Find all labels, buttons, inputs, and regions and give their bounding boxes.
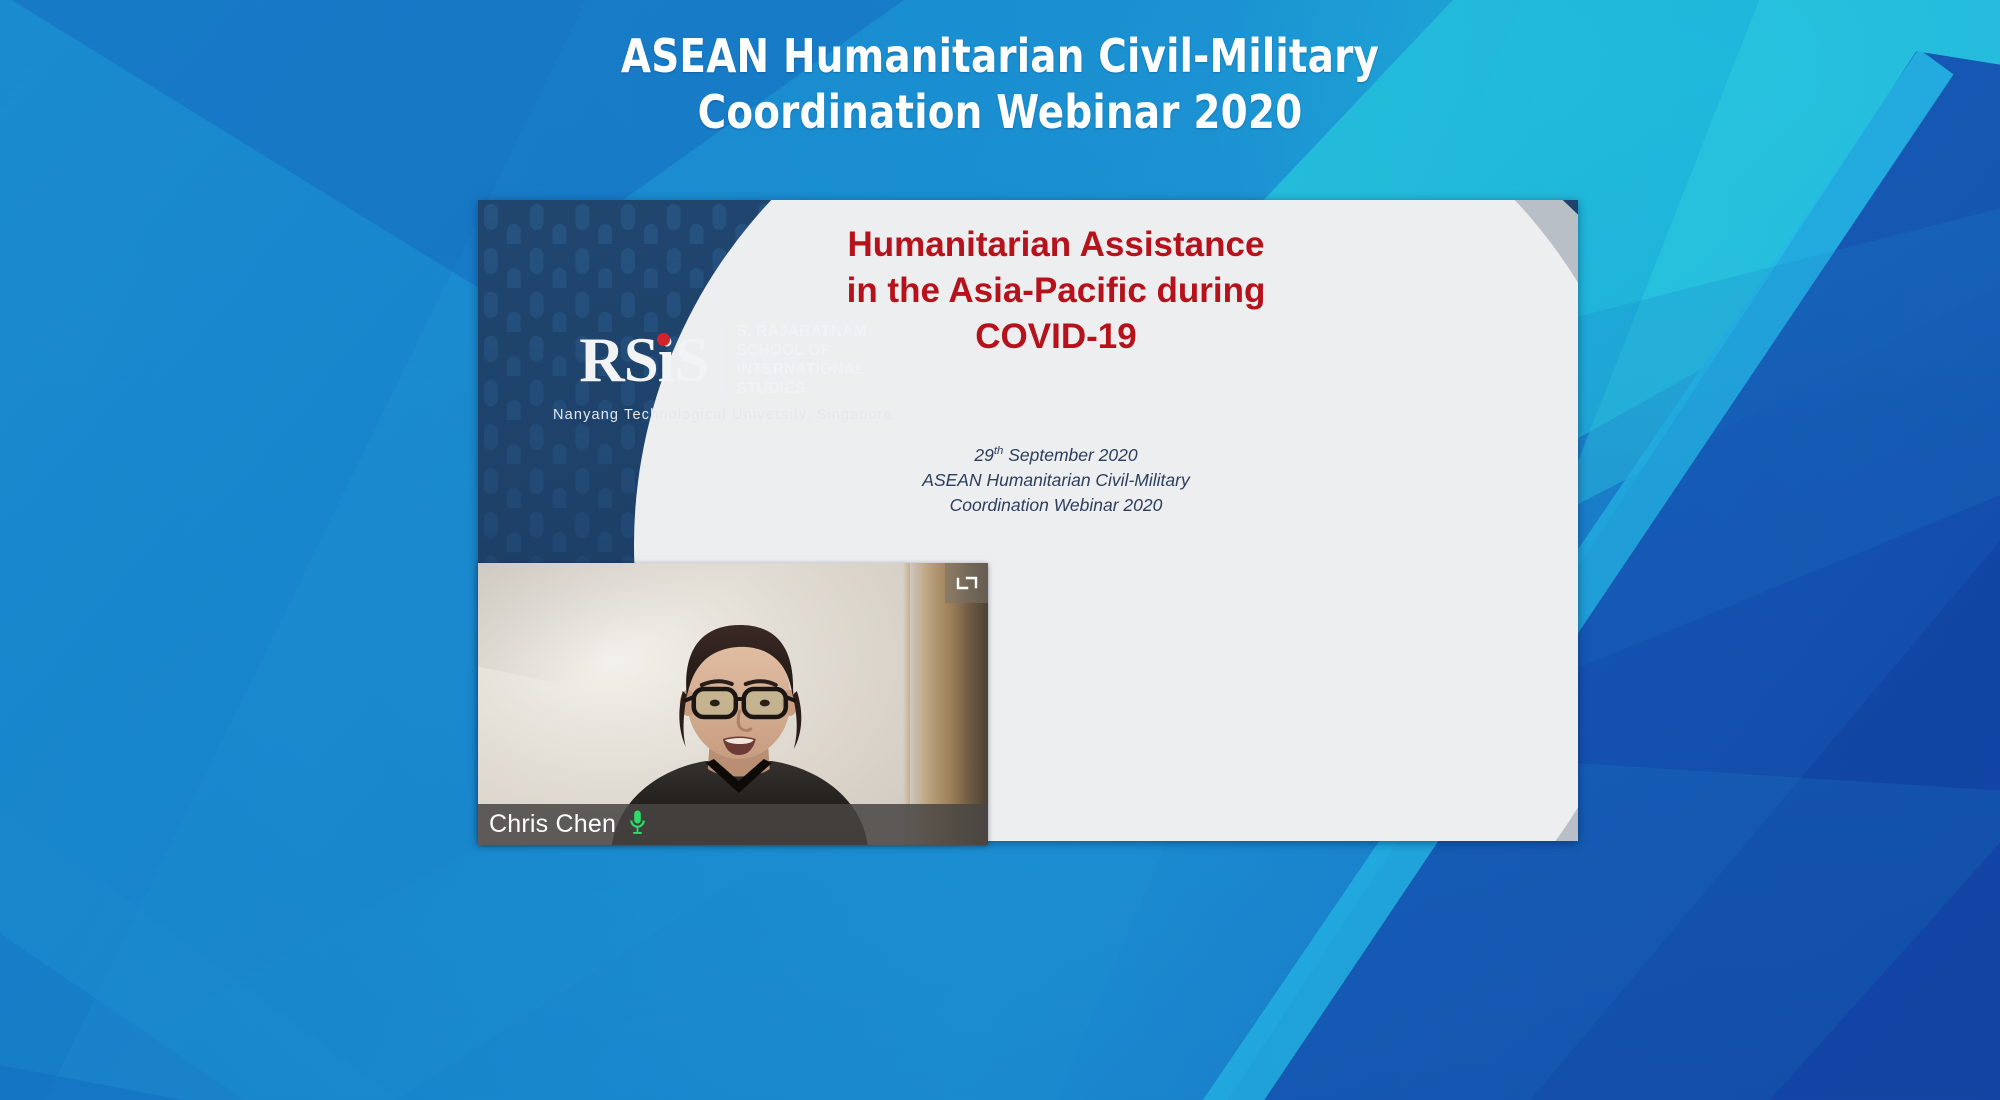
slide-title-line-2: in the Asia-Pacific during xyxy=(778,268,1334,314)
exit-minimize-icon[interactable] xyxy=(945,563,988,603)
participant-video-tile[interactable]: Chris Chen xyxy=(478,563,988,845)
slide-subtitle-line-1: ASEAN Humanitarian Civil-Military xyxy=(778,468,1334,493)
page-title-line-2: Coordination Webinar 2020 xyxy=(60,84,1940,140)
participant-name: Chris Chen xyxy=(489,810,616,839)
slide-title: Humanitarian Assistance in the Asia-Paci… xyxy=(778,222,1334,361)
page-title-line-1: ASEAN Humanitarian Civil-Military xyxy=(60,28,1940,84)
video-door-frame xyxy=(910,563,988,845)
slide-title-line-3: COVID-19 xyxy=(778,314,1334,360)
webinar-screenshot-stage: ASEAN Humanitarian Civil-Military Coordi… xyxy=(0,0,2000,1100)
microphone-icon[interactable] xyxy=(629,809,646,840)
rsis-wordmark: RSiS xyxy=(579,331,708,391)
slide-subtitle-date: 29th September 2020 xyxy=(778,443,1334,468)
rsis-wordmark-text: RSiS xyxy=(579,325,708,395)
participant-name-bar: Chris Chen xyxy=(478,804,988,845)
slide-subtitle: 29th September 2020 ASEAN Humanitarian C… xyxy=(778,443,1334,518)
slide-title-line-1: Humanitarian Assistance xyxy=(778,222,1334,268)
slide-subtitle-date-ordinal: th xyxy=(994,445,1003,457)
slide-subtitle-date-number: 29 xyxy=(974,445,993,465)
slide-subtitle-line-2: Coordination Webinar 2020 xyxy=(778,493,1334,518)
page-title: ASEAN Humanitarian Civil-Military Coordi… xyxy=(60,28,1940,140)
rsis-divider xyxy=(721,326,723,396)
slide-subtitle-date-rest: September 2020 xyxy=(1003,445,1137,465)
